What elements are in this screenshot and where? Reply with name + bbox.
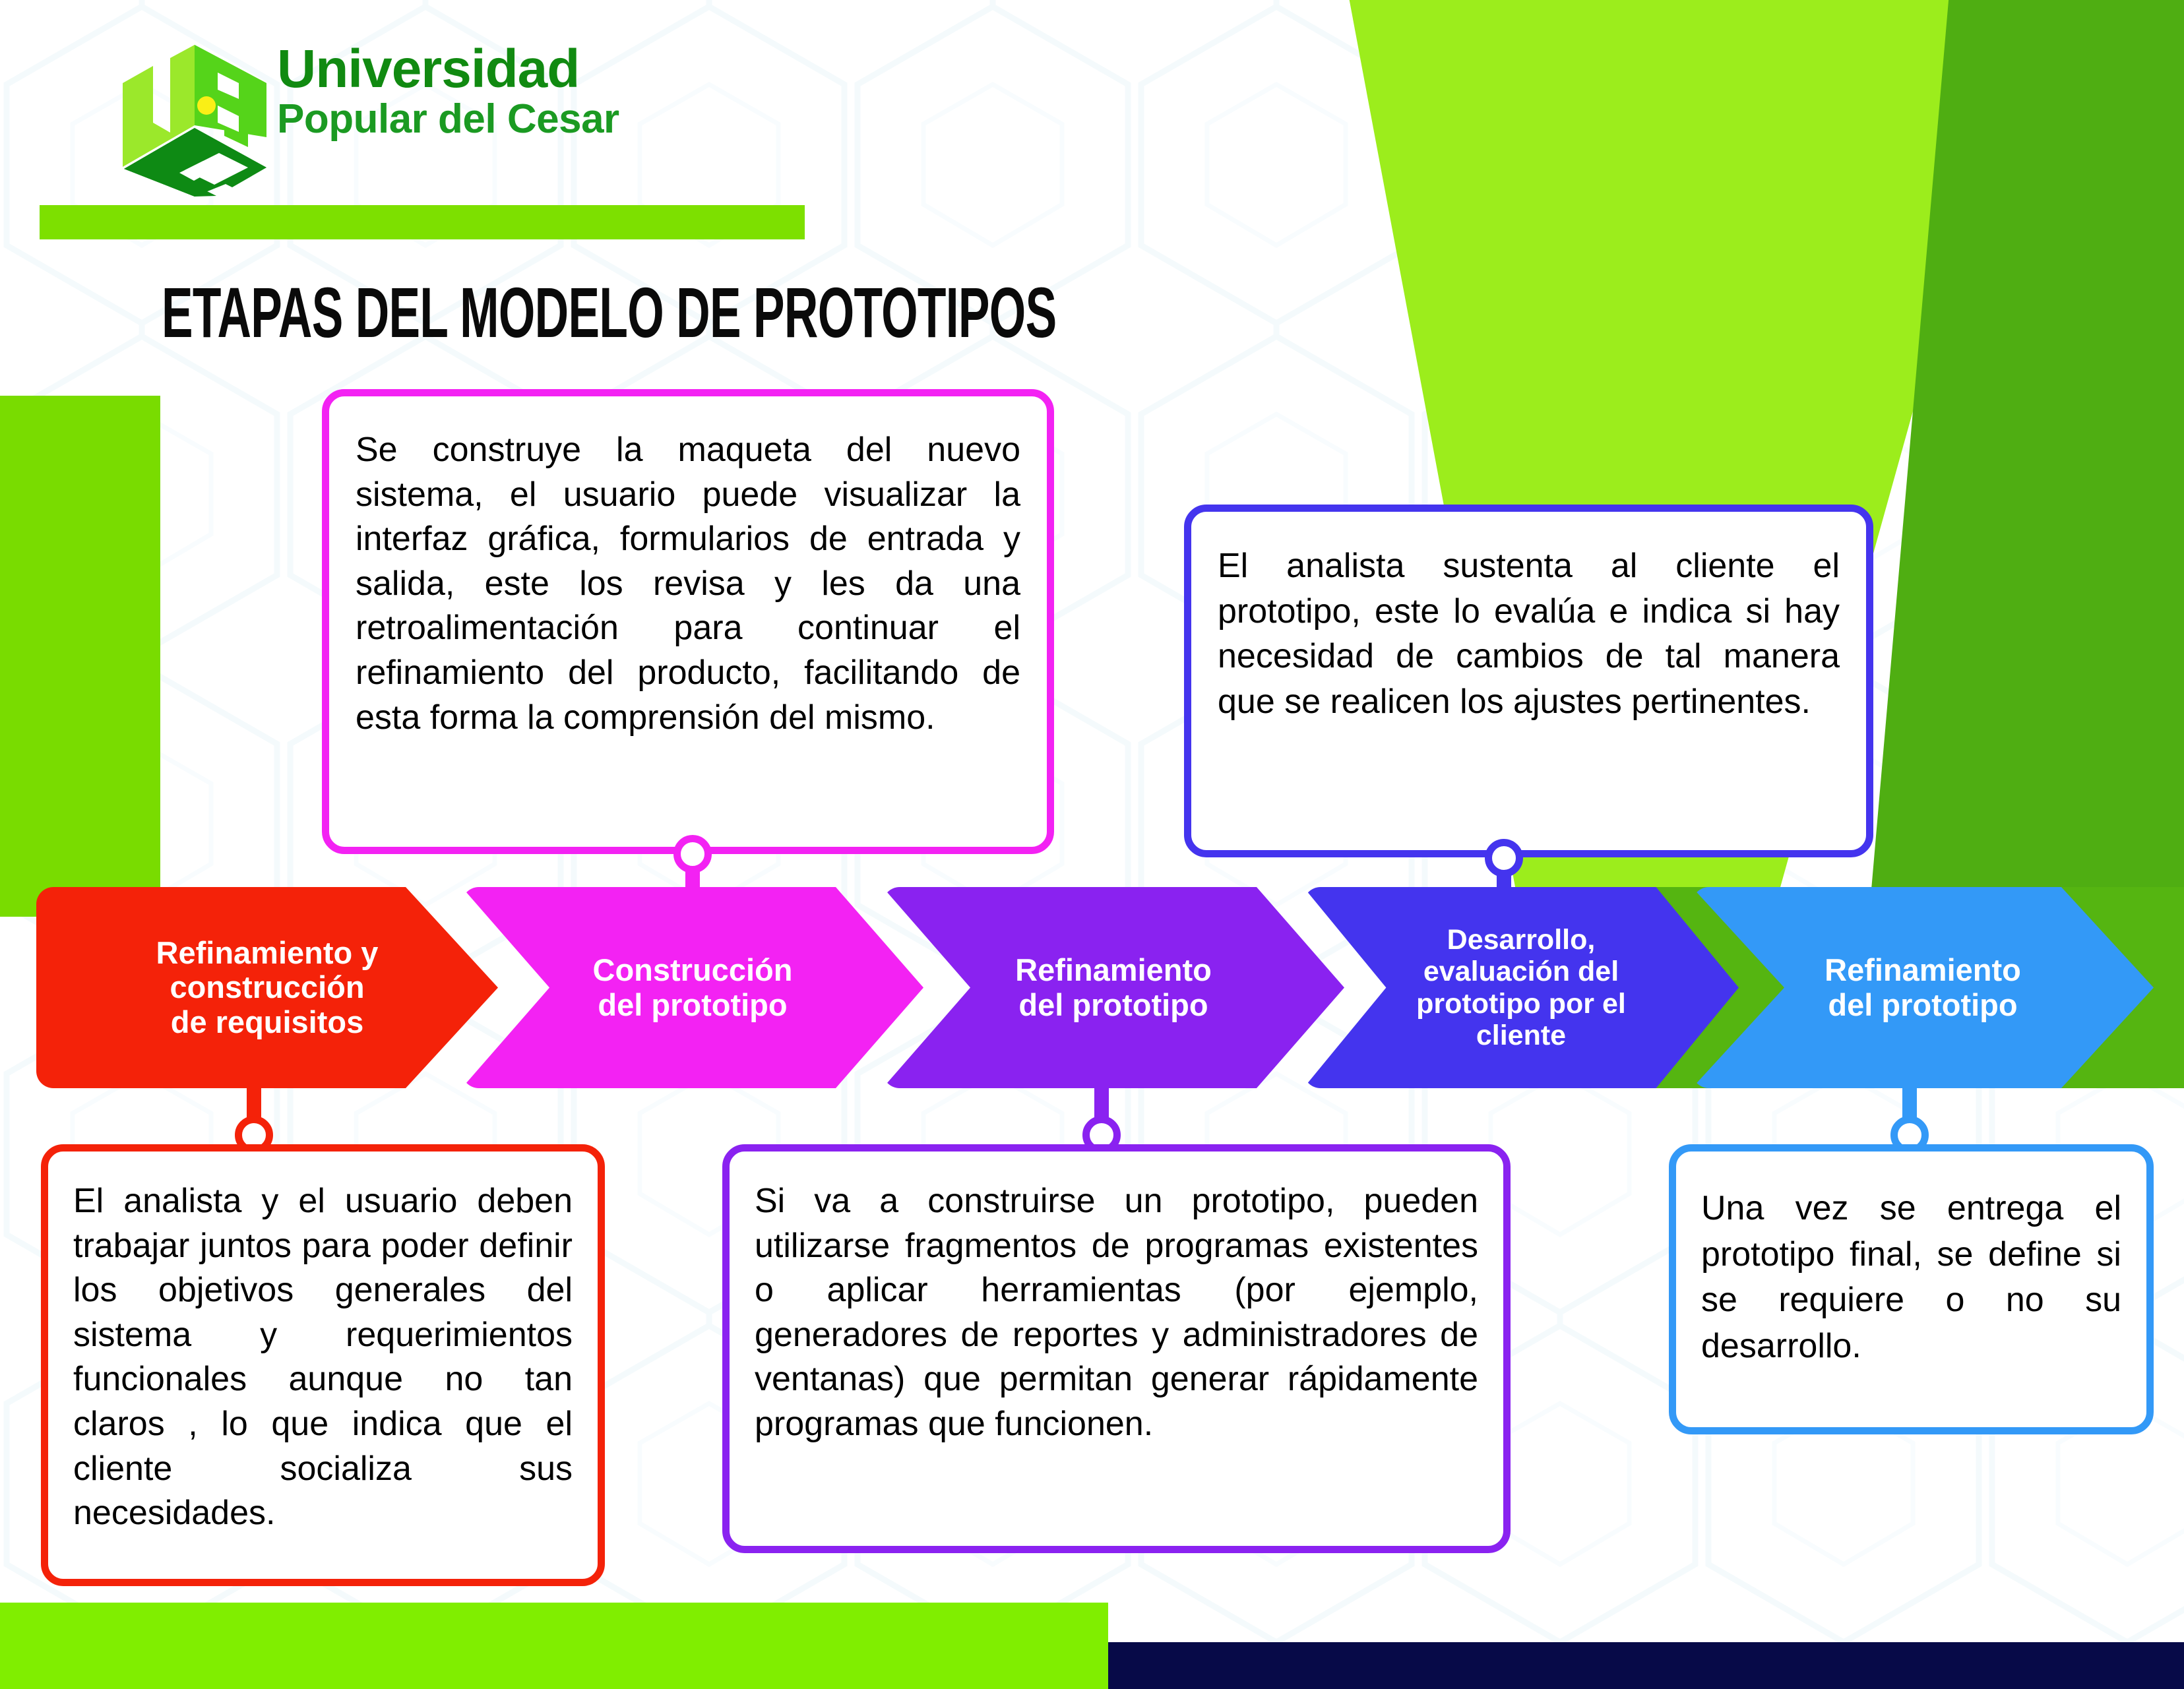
navy-bar-bottom [1108, 1642, 2184, 1689]
green-bar-bottom [0, 1603, 1108, 1689]
logo-name-line2: Popular del Cesar [277, 98, 619, 140]
green-block-left [0, 396, 160, 917]
callout-stage-5: Una vez se entrega el prototipo final, s… [1669, 1144, 2154, 1434]
up-isometric-cube-logo-icon [119, 32, 270, 197]
callout-text: El analista y el usuario deben trabajar … [73, 1179, 573, 1536]
infographic-page: Universidad Popular del Cesar ETAPAS DEL… [0, 0, 2184, 1689]
callout-stage-2: Se construye la maqueta del nuevo sistem… [322, 389, 1054, 854]
university-logo: Universidad Popular del Cesar [119, 32, 943, 203]
callout-stage-1: El analista y el usuario deben trabajar … [41, 1144, 605, 1586]
connector-stage-2 [666, 835, 719, 894]
callout-text: Se construye la maqueta del nuevo sistem… [356, 428, 1020, 740]
page-title: ETAPAS DEL MODELO DE PROTOTIPOS [162, 277, 1056, 348]
callout-text: El analista sustenta al cliente el proto… [1218, 543, 1840, 725]
stage-chevron-label: Refinamiento yconstrucciónde requisitos [36, 936, 498, 1040]
logo-name-line1: Universidad [277, 44, 619, 95]
callout-stage-3: Si va a construirse un prototipo, pueden… [722, 1144, 1511, 1553]
callout-stage-4: El analista sustenta al cliente el proto… [1184, 505, 1873, 857]
stage-chevron-1[interactable]: Refinamiento yconstrucciónde requisitos [36, 887, 498, 1088]
callout-text: Si va a construirse un prototipo, pueden… [755, 1179, 1478, 1447]
green-bar-header [40, 205, 805, 239]
callout-text: Una vez se entrega el prototipo final, s… [1701, 1186, 2121, 1370]
